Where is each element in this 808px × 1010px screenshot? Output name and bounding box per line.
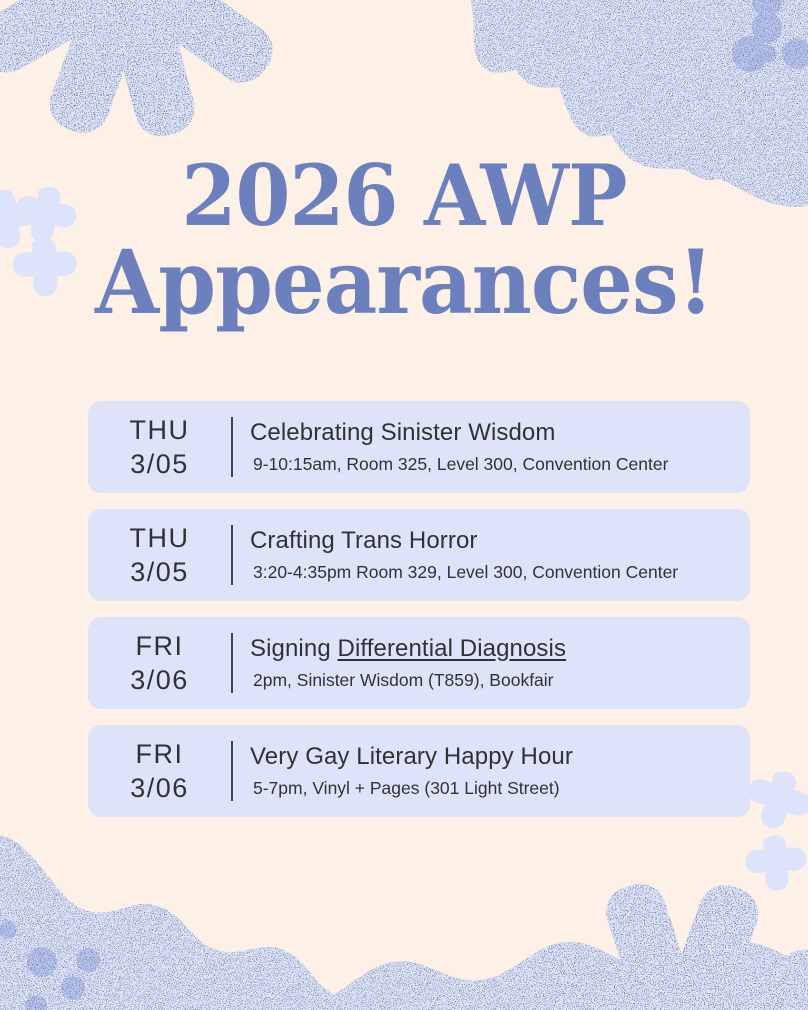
event-title: Very Gay Literary Happy Hour	[250, 742, 740, 772]
event-date: FRI 3/06	[88, 629, 231, 698]
event-date: FRI 3/06	[88, 737, 231, 806]
flower-burst-bottom-right	[509, 877, 808, 1010]
events-list: THU 3/05 Celebrating Sinister Wisdom 9-1…	[88, 401, 750, 817]
event-details: 9-10:15am, Room 325, Level 300, Conventi…	[250, 453, 740, 477]
blob-dots-top-right	[732, 0, 808, 72]
event-date-number: 3/05	[88, 447, 231, 481]
event-day-of-week: FRI	[88, 737, 231, 771]
event-day-of-week: FRI	[88, 629, 231, 663]
event-date-number: 3/06	[88, 771, 231, 805]
event-title-text: Crafting Trans Horror	[250, 527, 478, 554]
page-title: 2026 AWP Appearances!	[0, 155, 808, 326]
event-card[interactable]: FRI 3/06 Very Gay Literary Happy Hour 5-…	[88, 725, 750, 817]
event-card[interactable]: THU 3/05 Crafting Trans Horror 3:20-4:35…	[88, 509, 750, 601]
blob-dots-bottom-left	[0, 921, 100, 1010]
flower-burst-top-left	[0, 0, 299, 142]
title-line-1: 2026 AWP	[24, 155, 784, 236]
event-details: 5-7pm, Vinyl + Pages (301 Light Street)	[250, 777, 740, 801]
event-title: Signing Differential Diagnosis	[250, 634, 740, 664]
event-info: Crafting Trans Horror 3:20-4:35pm Room 3…	[233, 526, 750, 585]
event-info: Very Gay Literary Happy Hour 5-7pm, Viny…	[233, 742, 750, 801]
event-day-of-week: THU	[88, 413, 231, 447]
speckled-blob-bottom-left	[0, 835, 808, 1010]
event-info: Signing Differential Diagnosis 2pm, Sini…	[233, 634, 750, 693]
event-date: THU 3/05	[88, 413, 231, 482]
event-date: THU 3/05	[88, 521, 231, 590]
event-card[interactable]: THU 3/05 Celebrating Sinister Wisdom 9-1…	[88, 401, 750, 493]
event-title: Celebrating Sinister Wisdom	[250, 418, 740, 448]
event-details: 2pm, Sinister Wisdom (T859), Bookfair	[250, 669, 740, 693]
event-title-text: Celebrating Sinister Wisdom	[250, 419, 555, 446]
poster-canvas: 2026 AWP Appearances! THU 3/05 Celebrati…	[0, 0, 808, 1010]
event-date-number: 3/06	[88, 663, 231, 697]
event-card[interactable]: FRI 3/06 Signing Differential Diagnosis …	[88, 617, 750, 709]
event-title-underlined: Differential Diagnosis	[338, 635, 567, 662]
event-date-number: 3/05	[88, 555, 231, 589]
event-details: 3:20-4:35pm Room 329, Level 300, Convent…	[250, 561, 740, 585]
event-title: Crafting Trans Horror	[250, 526, 740, 556]
title-line-2: Appearances!	[24, 240, 784, 325]
event-title-text: Very Gay Literary Happy Hour	[250, 743, 573, 770]
event-info: Celebrating Sinister Wisdom 9-10:15am, R…	[233, 418, 750, 477]
event-title-text: Signing	[250, 635, 338, 662]
event-day-of-week: THU	[88, 521, 231, 555]
